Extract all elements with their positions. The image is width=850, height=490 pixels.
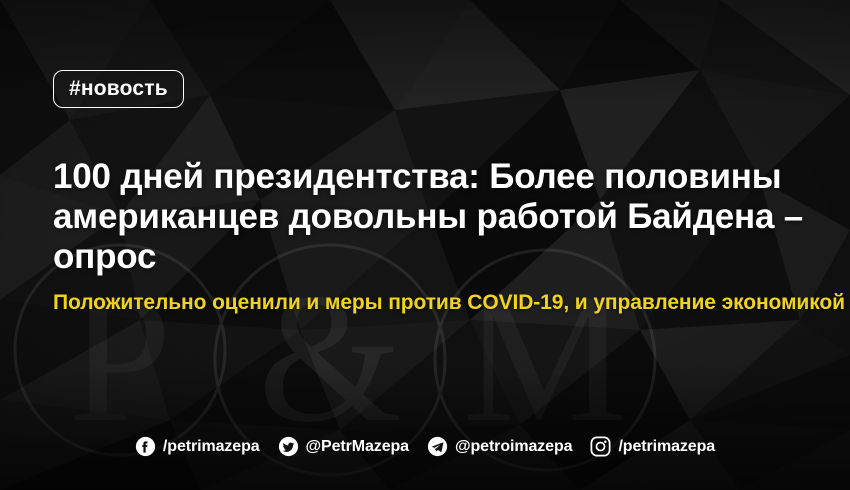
social-handle-instagram: /petrimazepa bbox=[618, 439, 715, 455]
category-badge-label: #новость bbox=[69, 78, 168, 99]
social-link-telegram[interactable]: @petroimazepa bbox=[427, 436, 572, 457]
page-title: 100 дней президентства: Более половины а… bbox=[53, 157, 823, 277]
card-content: #новость 100 дней президентства: Более п… bbox=[0, 0, 850, 490]
category-badge[interactable]: #новость bbox=[53, 70, 184, 108]
page-subtitle: Положительно оценили и меры против COVID… bbox=[53, 290, 828, 316]
social-link-instagram[interactable]: /petrimazepa bbox=[590, 436, 715, 457]
social-handle-facebook: /petrimazepa bbox=[163, 439, 260, 455]
facebook-icon bbox=[135, 436, 156, 457]
social-link-facebook[interactable]: /petrimazepa bbox=[135, 436, 260, 457]
social-handle-twitter: @PetrMazepa bbox=[306, 439, 409, 455]
instagram-icon bbox=[590, 436, 611, 457]
social-link-twitter[interactable]: @PetrMazepa bbox=[278, 436, 409, 457]
twitter-icon bbox=[278, 436, 299, 457]
news-card: & P M #новость 100 дней президентства: Б… bbox=[0, 0, 850, 490]
social-handle-telegram: @petroimazepa bbox=[455, 439, 572, 455]
telegram-icon bbox=[427, 436, 448, 457]
social-links-bar: /petrimazepa @PetrMazepa @petroimazepa bbox=[0, 436, 850, 457]
